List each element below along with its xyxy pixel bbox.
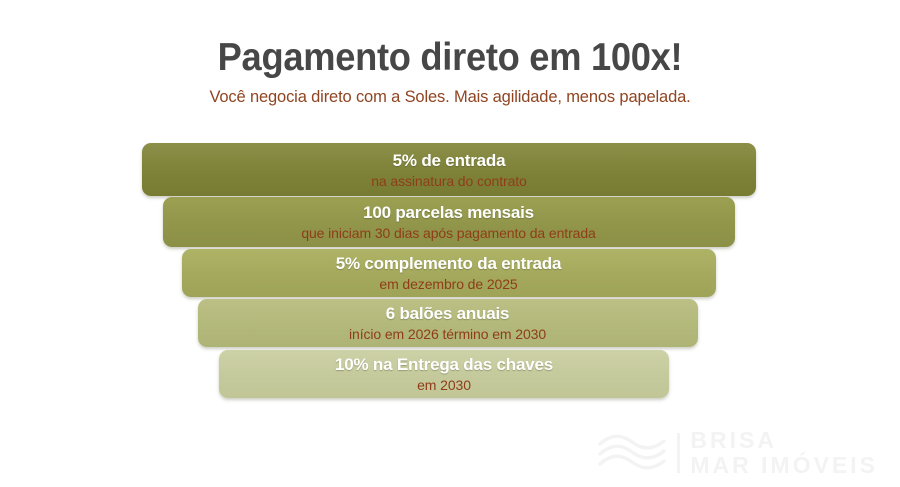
watermark-text: BRISA MAR IMÓVEIS — [690, 429, 878, 477]
funnel-step-label: 100 parcelas mensais — [363, 202, 534, 223]
waves-icon — [597, 431, 667, 475]
funnel-step-sublabel: que iniciam 30 dias após pagamento da en… — [301, 224, 595, 242]
funnel-row: 5% complemento da entrada em dezembro de… — [0, 247, 900, 297]
watermark-line-1: BRISA — [690, 429, 878, 452]
payment-funnel: 5% de entrada na assinatura do contrato … — [0, 143, 900, 398]
funnel-step-sublabel: na assinatura do contrato — [371, 172, 527, 190]
funnel-step-label: 10% na Entrega das chaves — [335, 354, 553, 375]
funnel-step-label: 5% de entrada — [393, 150, 506, 171]
funnel-step-label: 6 balões anuais — [386, 303, 510, 324]
page-title: Pagamento direto em 100x! — [32, 0, 869, 80]
brand-watermark: BRISA MAR IMÓVEIS — [597, 429, 878, 477]
funnel-row: 100 parcelas mensais que iniciam 30 dias… — [0, 196, 900, 247]
funnel-step-label: 5% complemento da entrada — [336, 253, 562, 274]
funnel-step-4: 6 balões anuais início em 2026 término e… — [198, 299, 698, 347]
funnel-step-2: 100 parcelas mensais que iniciam 30 dias… — [163, 197, 735, 247]
funnel-step-1: 5% de entrada na assinatura do contrato — [142, 143, 756, 196]
funnel-step-sublabel: início em 2026 término em 2030 — [349, 325, 546, 343]
funnel-row: 6 balões anuais início em 2026 término e… — [0, 297, 900, 347]
funnel-step-5: 10% na Entrega das chaves em 2030 — [219, 350, 669, 398]
page-subtitle: Você negocia direto com a Soles. Mais ag… — [0, 80, 900, 107]
funnel-row: 10% na Entrega das chaves em 2030 — [0, 347, 900, 398]
watermark-divider — [677, 433, 680, 473]
funnel-step-sublabel: em 2030 — [417, 376, 471, 394]
funnel-step-3: 5% complemento da entrada em dezembro de… — [182, 249, 716, 297]
funnel-row: 5% de entrada na assinatura do contrato — [0, 143, 900, 196]
funnel-step-sublabel: em dezembro de 2025 — [379, 275, 517, 293]
header: Pagamento direto em 100x! Você negocia d… — [0, 0, 900, 107]
watermark-line-2: MAR IMÓVEIS — [690, 454, 878, 477]
infographic-canvas: Pagamento direto em 100x! Você negocia d… — [0, 0, 900, 487]
